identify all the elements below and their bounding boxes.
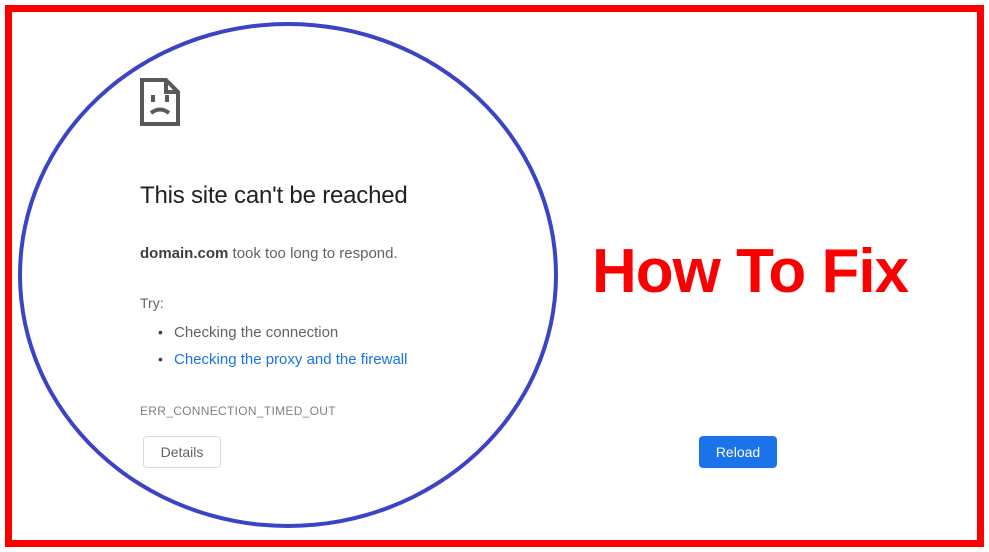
suggestion-item-proxy-firewall-link[interactable]: Checking the proxy and the firewall — [174, 346, 560, 373]
network-error-page: This site can't be reached domain.com to… — [140, 78, 560, 419]
details-button[interactable]: Details — [143, 436, 221, 468]
reload-button[interactable]: Reload — [699, 436, 777, 468]
page-title: This site can't be reached — [140, 181, 560, 211]
error-code: ERR_CONNECTION_TIMED_OUT — [140, 403, 560, 419]
error-host: domain.com — [140, 245, 228, 262]
sad-page-icon — [140, 78, 180, 126]
suggestion-list: Checking the connection Checking the pro… — [140, 319, 560, 373]
try-label: Try: — [140, 293, 560, 313]
how-to-fix-headline: How To Fix — [592, 236, 908, 308]
screenshot-canvas: This site can't be reached domain.com to… — [0, 0, 989, 552]
suggestion-item-connection: Checking the connection — [174, 319, 560, 346]
error-subtitle-text: took too long to respond. — [228, 245, 397, 262]
error-subtitle: domain.com took too long to respond. — [140, 243, 560, 265]
